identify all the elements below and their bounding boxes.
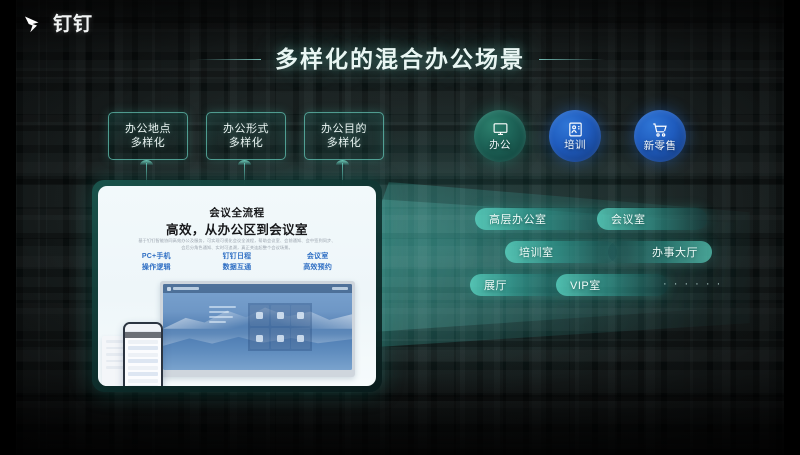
action-tile — [291, 305, 310, 326]
status-placeholder — [332, 287, 348, 290]
phone-list-row — [128, 340, 158, 344]
info-line — [209, 321, 226, 323]
space-pill-label: VIP室 — [570, 277, 601, 293]
brand-name: 钉钉 — [53, 15, 93, 34]
feature-line2: 数据互通 — [223, 263, 252, 274]
space-pill-label: 培训室 — [519, 244, 554, 260]
phone-list-row — [128, 366, 158, 370]
action-tile — [250, 328, 269, 349]
card-feature-item: 钉钉日程 数据互通 — [223, 252, 252, 273]
left-letterbox — [0, 0, 16, 455]
info-line — [209, 316, 232, 318]
feature-line1: 会议室 — [303, 252, 332, 263]
space-pill-exhibition-hall[interactable]: 展厅 — [470, 274, 568, 296]
title-rule-right — [539, 59, 605, 60]
tag-box-line2: 多样化 — [229, 138, 264, 149]
phone-screen — [125, 324, 161, 386]
feature-line1: PC+手机 — [142, 252, 171, 263]
display-info-column — [206, 303, 244, 351]
phone-list-row — [128, 359, 158, 363]
shopping-cart-icon — [651, 121, 669, 139]
card-heading-small: 会议全流程 — [98, 205, 376, 220]
card-feature-item: PC+手机 操作逻辑 — [142, 252, 171, 273]
feature-line1: 钉钉日程 — [223, 252, 252, 263]
phone-list-row — [128, 353, 158, 357]
action-tile — [271, 305, 290, 326]
tag-box-line1: 办公目的 — [321, 124, 367, 135]
smart-display-mockup — [160, 281, 355, 377]
title-rule-left — [195, 59, 261, 60]
info-line — [209, 311, 229, 313]
feature-line2: 高效预约 — [303, 263, 332, 274]
scenario-label: 新零售 — [644, 141, 677, 152]
space-pill-meeting-room[interactable]: 会议室 — [597, 208, 707, 230]
scenario-circle-office[interactable]: 办公 — [474, 110, 526, 162]
space-pill-training-room[interactable]: 培训室 — [505, 241, 617, 263]
page-title: 多样化的混合办公场景 — [275, 48, 525, 71]
tag-box-line1: 办公地点 — [125, 124, 171, 135]
space-pill-vip-room[interactable]: VIP室 — [556, 274, 668, 296]
tag-box-office-form[interactable]: 办公形式 多样化 — [206, 112, 286, 160]
tag-box-line2: 多样化 — [131, 138, 166, 149]
title-placeholder — [173, 287, 199, 290]
space-pill-label: 办事大厅 — [652, 244, 698, 260]
right-letterbox — [784, 0, 800, 455]
phone-list — [125, 338, 161, 386]
space-pill-service-hall[interactable]: 办事大厅 — [608, 241, 712, 263]
tag-box-line2: 多样化 — [327, 138, 362, 149]
action-tile — [291, 328, 310, 349]
scenario-label: 办公 — [489, 140, 511, 151]
space-pill-label: 高层办公室 — [489, 211, 547, 227]
space-pill-label: 会议室 — [611, 211, 646, 227]
space-pill-executive-office[interactable]: 高层办公室 — [475, 208, 603, 230]
more-indicator: · · · · · · — [663, 278, 722, 290]
action-tile — [271, 328, 290, 349]
tag-box-office-location[interactable]: 办公地点 多样化 — [108, 112, 188, 160]
phone-mockup — [123, 322, 163, 386]
display-action-grid — [248, 303, 312, 351]
slide-stage: 钉钉 多样化的混合办公场景 办公地点 多样化 办公形式 多样化 办公目的 多样化… — [0, 0, 800, 455]
info-line — [209, 306, 235, 308]
scenario-label: 培训 — [564, 140, 586, 151]
phone-list-row — [128, 379, 158, 383]
display-top-bar — [163, 284, 352, 293]
card-description: 基于钉钉智能协同高效办公及服务，可实现可视化会议全流程，帮助会议室、会前通知、会… — [138, 237, 336, 252]
phone-list-row — [128, 372, 158, 376]
phone-status-bar — [125, 324, 161, 332]
tag-box-line1: 办公形式 — [223, 124, 269, 135]
card-heading-large: 高效，从办公区到会议室 — [98, 219, 376, 238]
display-screen — [163, 284, 352, 370]
card-feature-row: PC+手机 操作逻辑 钉钉日程 数据互通 会议室 高效预约 — [116, 252, 358, 273]
training-board-icon — [567, 121, 584, 138]
phone-list-row — [128, 385, 158, 386]
scenario-circle-training[interactable]: 培训 — [549, 110, 601, 162]
feature-card[interactable]: 会议全流程 高效，从办公区到会议室 基于钉钉智能协同高效办公及服务，可实现可视化… — [98, 186, 376, 386]
space-pill-label: 展厅 — [484, 277, 507, 293]
phone-list-row — [128, 346, 158, 350]
card-feature-item: 会议室 高效预约 — [303, 252, 332, 273]
dingtalk-bird-icon — [22, 12, 46, 36]
page-title-row: 多样化的混合办公场景 — [0, 48, 800, 71]
tag-box-office-purpose[interactable]: 办公目的 多样化 — [304, 112, 384, 160]
action-tile — [250, 305, 269, 326]
app-icon — [167, 287, 171, 291]
scenario-circle-new-retail[interactable]: 新零售 — [634, 110, 686, 162]
feature-line2: 操作逻辑 — [142, 263, 171, 274]
monitor-icon — [492, 121, 509, 138]
brand-logo: 钉钉 — [22, 12, 93, 36]
